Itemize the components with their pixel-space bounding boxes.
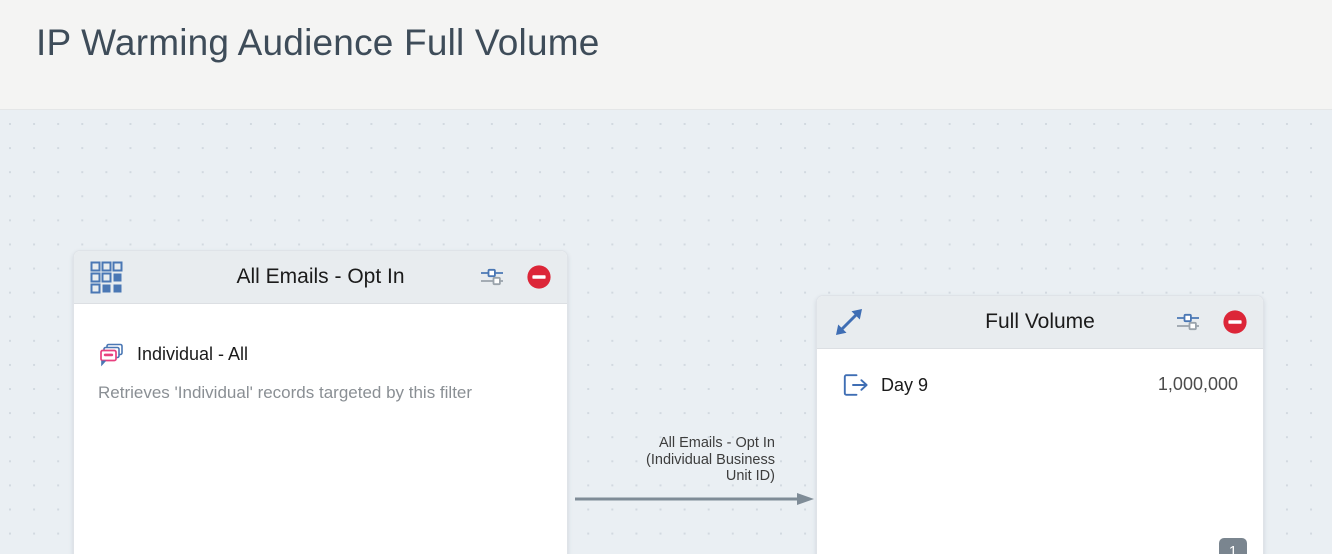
- block-body-filter: Individual - All Retrieves 'Individual' …: [74, 304, 567, 554]
- connector-label-line-2: (Individual Business: [615, 452, 775, 469]
- block-card-filter[interactable]: All Emails - Opt In: [73, 250, 568, 554]
- connector-label-line-3: Unit ID): [615, 468, 775, 485]
- connector-arrow-icon: [575, 493, 814, 505]
- sliders-icon[interactable]: [479, 264, 505, 290]
- flow-canvas[interactable]: The split is for illustration purposes o…: [0, 110, 1332, 554]
- split-path-label: Day 9: [881, 375, 928, 396]
- remove-circle-icon[interactable]: [1222, 309, 1248, 335]
- exit-arrow-icon: [842, 372, 870, 398]
- filter-source-label: Individual - All: [137, 344, 248, 365]
- filter-source-row[interactable]: Individual - All: [98, 341, 248, 367]
- block-body-split: Day 9 1,000,000 1: [817, 349, 1263, 554]
- filter-description: Retrieves 'Individual' records targeted …: [98, 383, 472, 403]
- page-title: IP Warming Audience Full Volume: [36, 22, 600, 64]
- connector-label-line-1: All Emails - Opt In: [615, 435, 775, 452]
- split-path-row[interactable]: Day 9: [842, 372, 928, 398]
- workflow-canvas-page: IP Warming Audience Full Volume The spli…: [0, 0, 1332, 554]
- split-path-value: 1,000,000: [1158, 374, 1238, 395]
- block-header-filter: All Emails - Opt In: [74, 251, 567, 304]
- expand-diagonal-icon: [829, 302, 869, 342]
- block-count-badge-split[interactable]: 1: [1219, 538, 1247, 554]
- connector-arrow[interactable]: [575, 492, 814, 504]
- page-header-bar: IP Warming Audience Full Volume: [0, 0, 1332, 110]
- block-card-split[interactable]: Full Volume: [816, 295, 1264, 554]
- remove-circle-icon[interactable]: [526, 264, 552, 290]
- sliders-icon[interactable]: [1175, 309, 1201, 335]
- grid-squares-icon: [86, 257, 126, 297]
- connector-label: All Emails - Opt In (Individual Business…: [615, 435, 775, 485]
- block-header-split: Full Volume: [817, 296, 1263, 349]
- records-stack-icon: [98, 341, 126, 367]
